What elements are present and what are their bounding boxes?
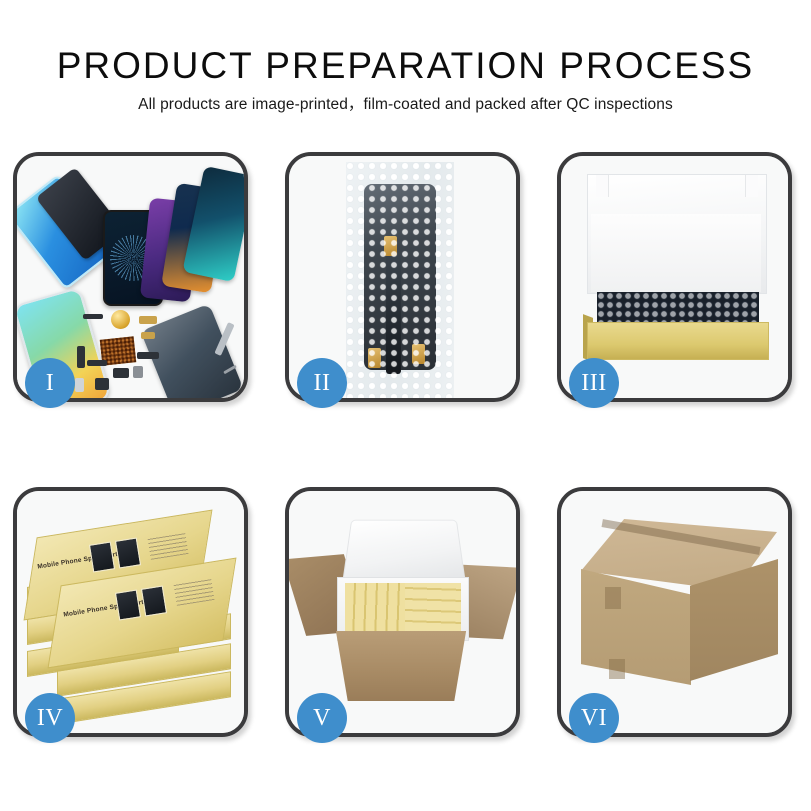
page-subtitle: All products are image-printed，film-coat… [0, 95, 811, 115]
box-screen-graphic [89, 541, 115, 572]
bubble-wrap-bag [346, 162, 454, 398]
spare-part [133, 366, 143, 378]
process-step-grid: I II [13, 152, 798, 737]
page-title: PRODUCT PREPARATION PROCESS [0, 44, 811, 88]
product-preparation-infographic: PRODUCT PREPARATION PROCESS All products… [0, 0, 811, 811]
spare-part [75, 378, 84, 392]
process-step-panel-2: II [285, 152, 520, 402]
gold-connector-tab [368, 348, 381, 368]
box-screen-graphic [115, 537, 141, 568]
kraft-box-base [587, 322, 769, 360]
carton-left-face [581, 569, 691, 685]
spare-part [95, 378, 109, 390]
process-step-panel-5: V [285, 487, 520, 737]
packed-boxes-row-2 [405, 583, 461, 631]
spare-part [87, 360, 107, 366]
process-step-panel-3: III [557, 152, 792, 402]
spare-part [83, 314, 103, 319]
process-step-panel-4: Mobile Phone Spare Parts Mobile Phone Sp… [13, 487, 248, 737]
step-badge-5: V [297, 693, 347, 743]
carton-tape-patch [605, 587, 621, 609]
step-badge-2: II [297, 358, 347, 408]
step-badge-1: I [25, 358, 75, 408]
flex-cable [386, 254, 401, 374]
step-badge-4: IV [25, 693, 75, 743]
carton-front-wall [327, 631, 475, 701]
spare-part [77, 346, 85, 368]
spare-part [141, 332, 155, 339]
phone-teal [182, 166, 244, 282]
carton-tape-patch [609, 659, 625, 679]
gold-connector-tab [384, 236, 397, 256]
process-step-panel-1: I [13, 152, 248, 402]
vibration-motor-part [111, 310, 130, 329]
header: PRODUCT PREPARATION PROCESS All products… [0, 44, 811, 115]
box-screen-graphic [141, 585, 167, 616]
step-badge-6: VI [569, 693, 619, 743]
box-foam-liner [591, 214, 761, 292]
bubble-wrap-padding [597, 292, 759, 326]
step-badge-3: III [569, 358, 619, 408]
box-stack: Mobile Phone Spare Parts Mobile Phone Sp… [23, 515, 244, 715]
box-screen-graphic [115, 589, 141, 620]
process-step-panel-6: VI [557, 487, 792, 737]
spare-part [137, 352, 159, 359]
spare-part [139, 316, 157, 324]
foam-box-lid [342, 520, 466, 583]
gold-connector-tab [412, 344, 425, 364]
spare-part [113, 368, 129, 378]
